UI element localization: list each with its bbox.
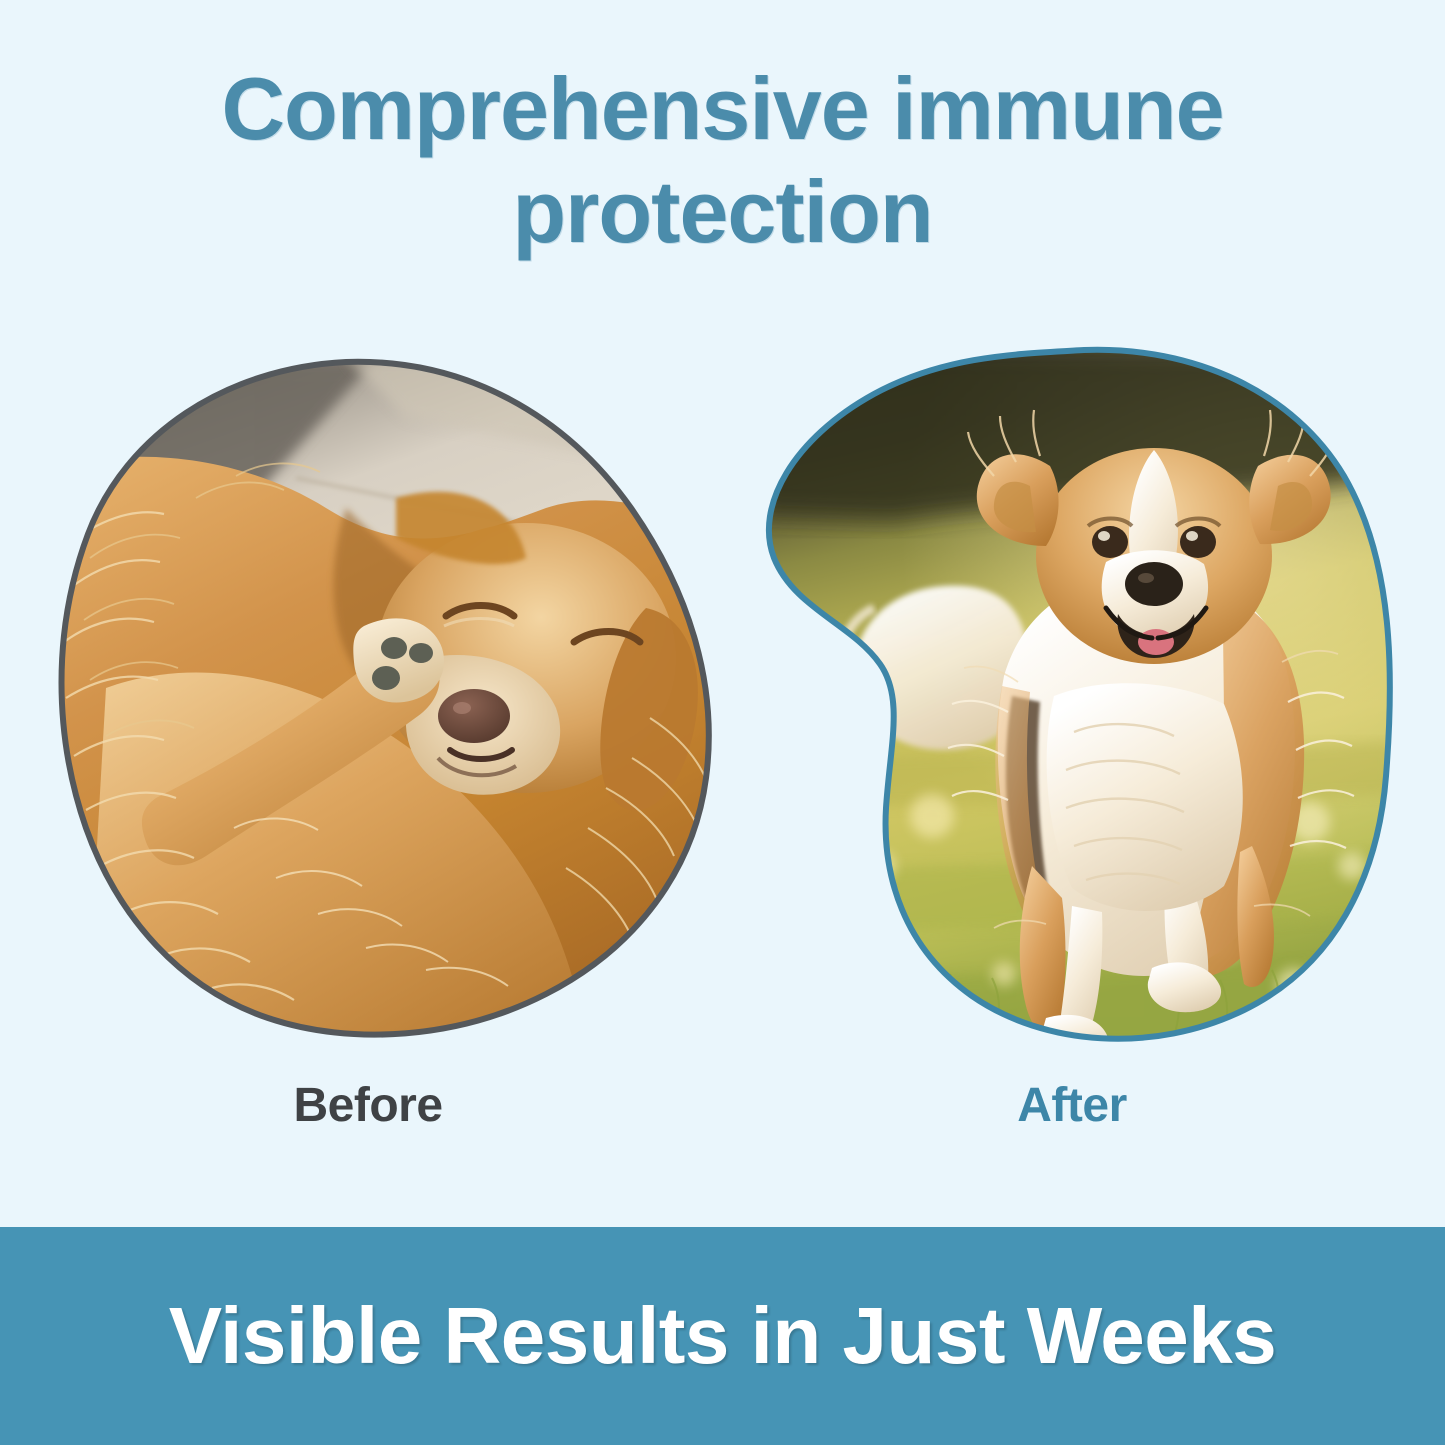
- before-after-comparison: Before: [0, 340, 1445, 1180]
- after-blob-image: [754, 346, 1392, 1046]
- after-photo-content: [754, 346, 1392, 1058]
- before-blob-image: [46, 358, 718, 1038]
- before-caption: Before: [18, 1078, 718, 1133]
- results-banner-text: Visible Results in Just Weeks: [169, 1290, 1276, 1382]
- before-photo-content: [26, 358, 746, 1058]
- before-panel: Before: [18, 340, 718, 1180]
- after-caption: After: [742, 1078, 1402, 1133]
- page-headline: Comprehensive immune protection: [0, 58, 1445, 264]
- results-banner: Visible Results in Just Weeks: [0, 1227, 1445, 1445]
- after-panel: After: [742, 340, 1402, 1180]
